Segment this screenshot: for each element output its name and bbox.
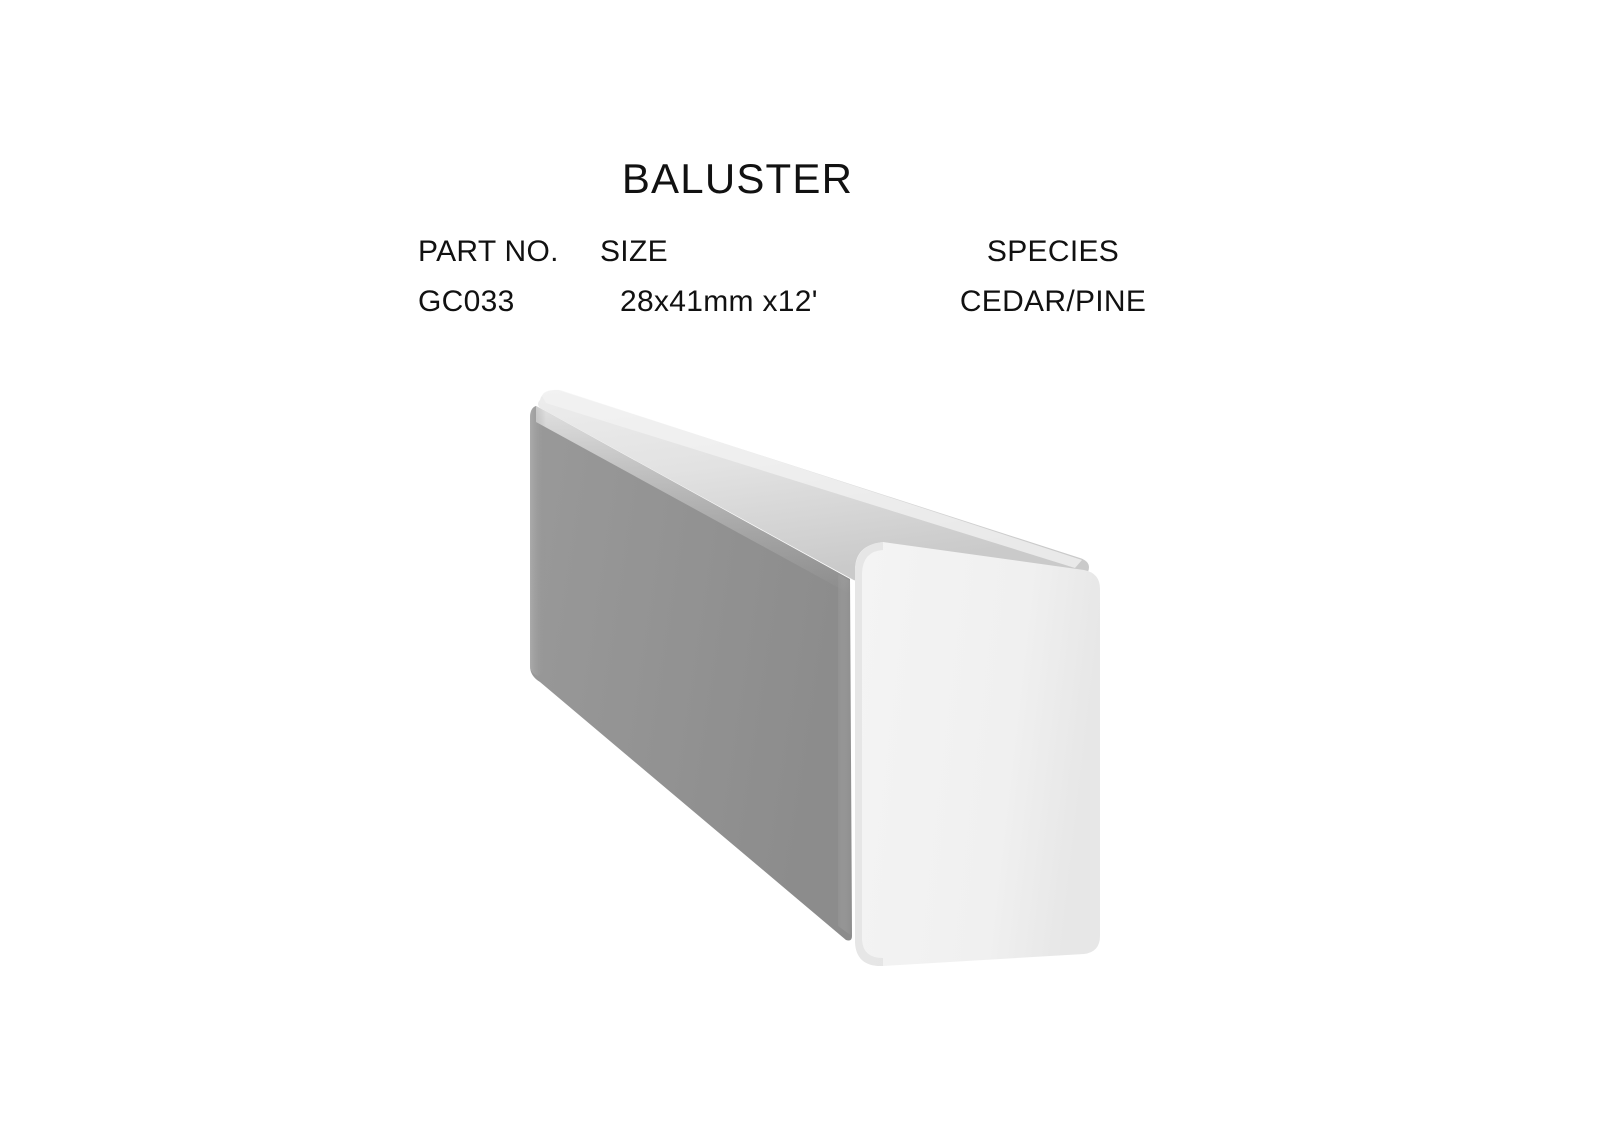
baluster-3d-icon (500, 370, 1120, 990)
spec-value-species: CEDAR/PINE (938, 282, 1168, 322)
spec-header-size: SIZE (600, 232, 900, 272)
baluster-cap-seam-shadow (838, 574, 852, 936)
spec-column-species: SPECIES CEDAR/PINE (938, 232, 1168, 322)
baluster-left-arris-shade (530, 406, 546, 676)
product-spec-sheet: BALUSTER PART NO. GC033 SIZE 28x41mm x12… (0, 0, 1600, 1131)
spec-value-size: 28x41mm x12' (600, 282, 900, 322)
baluster-end-cap-face (855, 542, 1100, 966)
baluster-end-cap-group (855, 542, 1100, 966)
spec-column-size: SIZE 28x41mm x12' (600, 232, 900, 322)
page-title: BALUSTER (0, 158, 1475, 200)
spec-header-part-no: PART NO. (418, 232, 598, 272)
product-render (500, 370, 1120, 990)
spec-header-species: SPECIES (938, 232, 1168, 272)
spec-table: PART NO. GC033 SIZE 28x41mm x12' SPECIES… (418, 232, 1138, 332)
spec-value-part-no: GC033 (418, 282, 598, 322)
spec-column-part-no: PART NO. GC033 (418, 232, 598, 322)
